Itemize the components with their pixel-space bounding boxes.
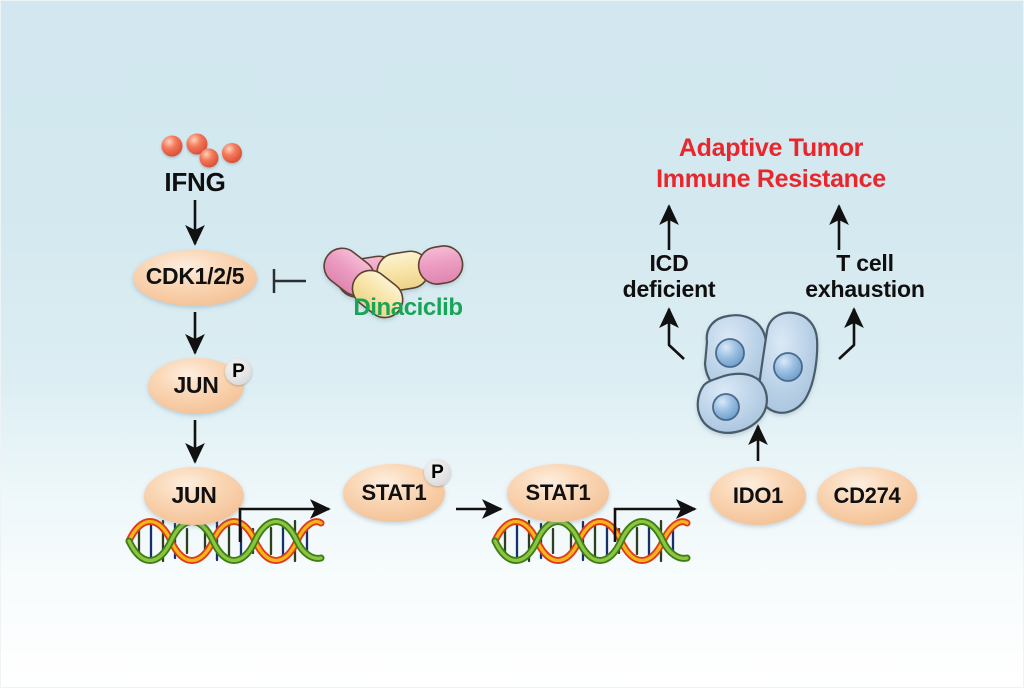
node-label-ido1: IDO1 (698, 483, 818, 509)
outcome-exhaustion: T cell exhaustion (779, 251, 951, 303)
drug-name-label: Dinaciclib (313, 295, 503, 322)
arrow-tumor-to-icd (669, 309, 684, 359)
tumor-nucleus-3 (713, 394, 739, 420)
tumor-cell-cluster (698, 313, 817, 433)
outcome-icd: ICD deficient (589, 251, 749, 303)
resistance-title-line1: Adaptive Tumor (601, 133, 941, 164)
phosphorylation-badge-stat1: P (424, 459, 451, 486)
node-label-cdk: CDK1/2/5 (125, 263, 265, 290)
tumor-nucleus-2 (774, 353, 802, 381)
node-label-jun: JUN (134, 482, 254, 509)
cytokine-spheres-icon (162, 134, 243, 168)
pathway-graphics (1, 1, 1024, 689)
ligand-label: IFNG (135, 168, 255, 197)
outcome-exhaustion-line1: T cell (779, 251, 951, 277)
arrow-tumor-to-exhaustion (839, 309, 854, 359)
dna-double-helix-jun (129, 521, 321, 561)
node-label-cd274: CD274 (807, 483, 927, 509)
inhibition-tbar-icon (274, 269, 306, 293)
dna-double-helix-stat1 (495, 521, 687, 561)
outcome-icd-line2: deficient (589, 277, 749, 303)
outcome-icd-line1: ICD (589, 251, 749, 277)
resistance-title: Adaptive Tumor Immune Resistance (601, 133, 941, 194)
node-label-stat1: STAT1 (498, 480, 618, 506)
pathway-figure-canvas: IFNG CDK1/2/5 JUN JUN STAT1 STAT1 IDO1 C… (0, 0, 1024, 688)
phosphorylation-badge-jun: P (225, 358, 252, 385)
tumor-nucleus-1 (716, 339, 744, 367)
outcome-exhaustion-line2: exhaustion (779, 277, 951, 303)
resistance-title-line2: Immune Resistance (601, 164, 941, 195)
